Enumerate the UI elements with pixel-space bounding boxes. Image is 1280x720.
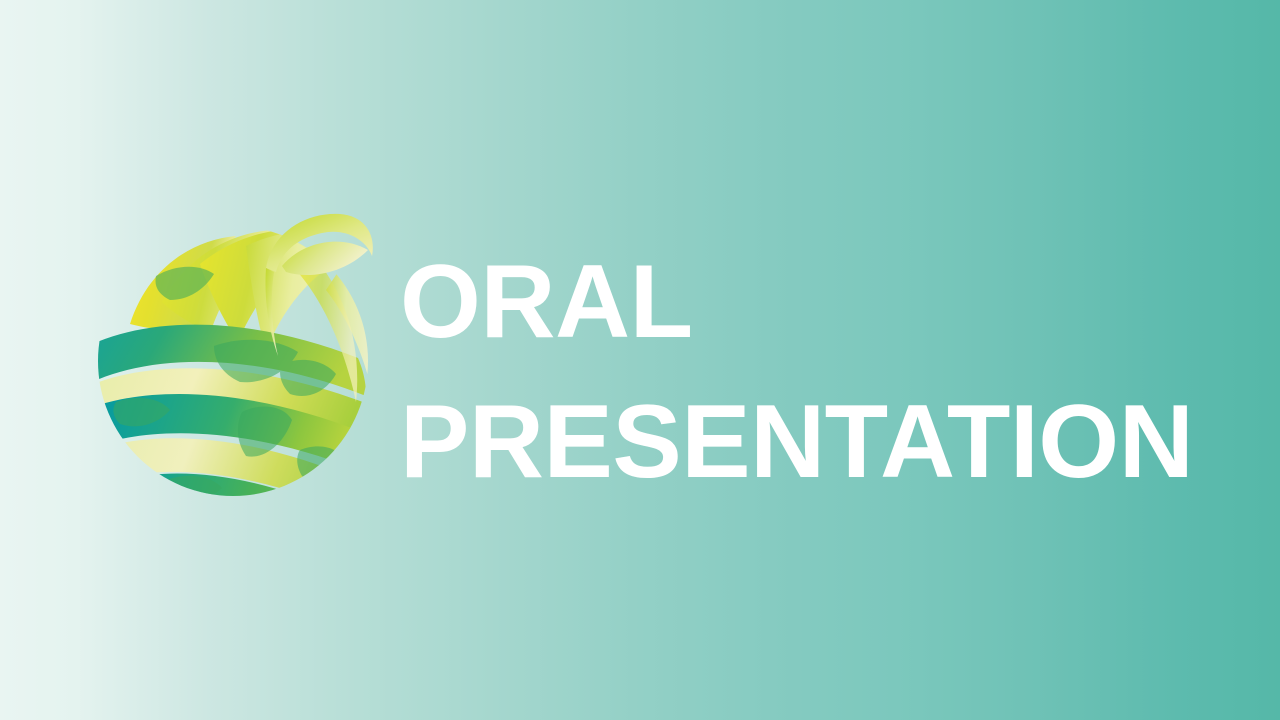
page-title-line-2: PRESENTATION [400,372,1240,512]
ribbon-band-9 [100,474,334,518]
slide-title-block: ORAL PRESENTATION [400,232,1240,512]
page-title-line-1: ORAL [400,232,1240,372]
globe-ribbon-leaf-logo [96,206,376,518]
presentation-slide: ORAL PRESENTATION [0,0,1280,720]
ribbon-band-10 [124,507,312,518]
